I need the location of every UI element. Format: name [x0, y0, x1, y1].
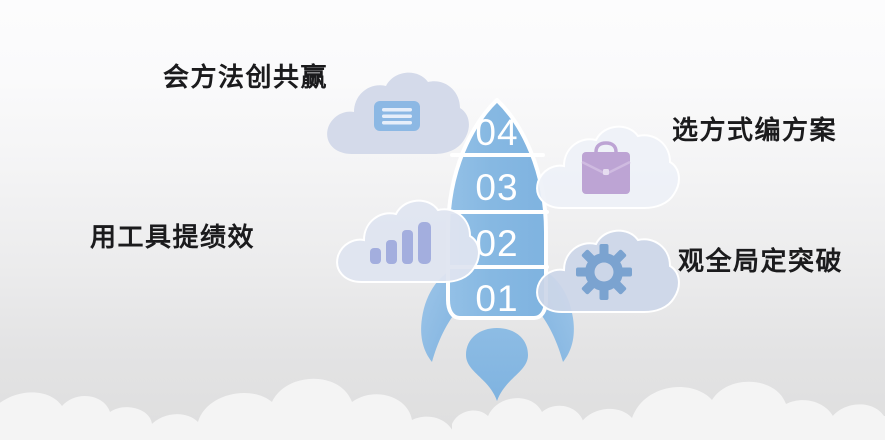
- rocket-graphic: 04 03 02 01: [0, 0, 885, 440]
- cloud-shape: [337, 201, 479, 282]
- rocket-fin-left: [421, 266, 461, 362]
- bar-chart-icon: [370, 222, 431, 264]
- segment-number-03: 03: [475, 167, 518, 208]
- cloud-gear: [532, 226, 682, 334]
- cloud-shape: [537, 127, 679, 208]
- label-bottom-right: 观全局定突破: [678, 248, 843, 274]
- infographic-slide: 04 03 02 01: [0, 0, 885, 440]
- rocket-segment-dividers: [448, 155, 547, 267]
- gear-icon: [576, 244, 632, 300]
- segment-number-01: 01: [475, 278, 518, 319]
- bottom-cloud-shapes: [0, 379, 885, 440]
- rocket-flame: [466, 328, 528, 401]
- cloud-bar-chart: [332, 196, 482, 304]
- rocket-fin-right: [534, 266, 574, 362]
- segment-number-02: 02: [475, 223, 518, 264]
- label-top-right: 选方式编方案: [672, 117, 837, 143]
- briefcase-icon: [582, 143, 630, 194]
- rocket-body: [448, 100, 546, 318]
- cloud-shape: [327, 73, 469, 154]
- cloud-briefcase: [532, 122, 682, 230]
- label-top-left: 会方法创共赢: [163, 64, 328, 90]
- label-bottom-left: 用工具提绩效: [90, 224, 255, 250]
- cloud-shape: [537, 231, 679, 312]
- segment-number-04: 04: [475, 112, 518, 153]
- bottom-cloud-band: [0, 350, 885, 440]
- list-icon: [374, 101, 420, 131]
- cloud-list: [322, 66, 472, 176]
